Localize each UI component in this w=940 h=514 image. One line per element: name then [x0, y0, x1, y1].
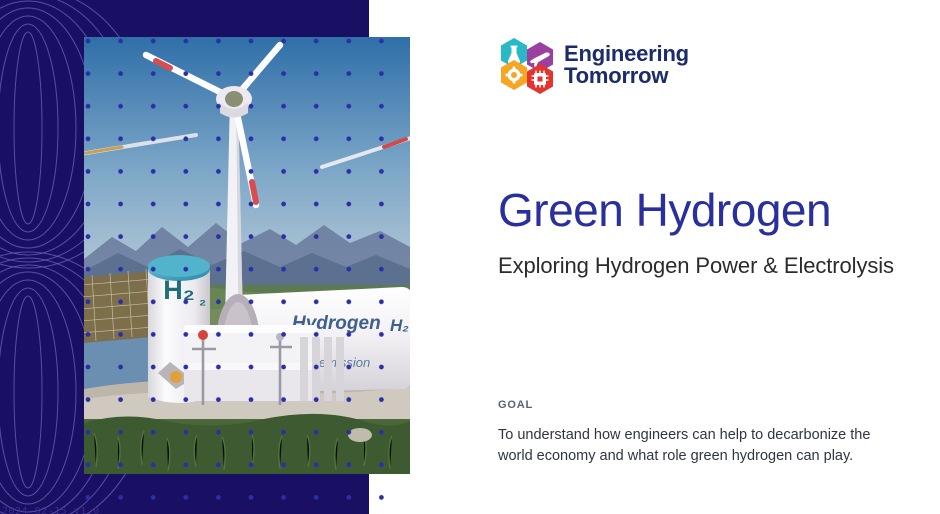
gear-hexagon [501, 60, 527, 90]
logo-hexagon-cluster [498, 36, 560, 94]
goal-label: GOAL [498, 399, 533, 411]
logo-wordmark: Engineering Tomorrow [564, 43, 689, 86]
tank-h2-label: H₂ [163, 275, 195, 305]
svg-text:₂: ₂ [199, 292, 206, 309]
slide-content: Engineering Tomorrow Green Hydrogen Expl… [498, 0, 940, 514]
hydrogen-facility-illustration: Hydrogen H₂ zero emission H₂ ₂ [84, 37, 410, 474]
page-title: Green Hydrogen [498, 186, 831, 234]
logo-wordmark-line2: Tomorrow [564, 65, 689, 87]
page-subtitle: Exploring Hydrogen Power & Electrolysis [498, 253, 894, 279]
cylinder-h2-label: H₂ [390, 316, 409, 335]
footer-timestamp: 2024-02-15 v1.0 [2, 506, 100, 514]
engineering-tomorrow-logo: Engineering Tomorrow [498, 36, 689, 94]
hero-photo: Hydrogen H₂ zero emission H₂ ₂ [84, 37, 410, 474]
logo-wordmark-line1: Engineering [564, 43, 689, 65]
chip-hexagon [527, 64, 553, 94]
presentation-slide: Hydrogen H₂ zero emission H₂ ₂ [0, 0, 940, 514]
goal-description: To understand how engineers can help to … [498, 425, 883, 466]
